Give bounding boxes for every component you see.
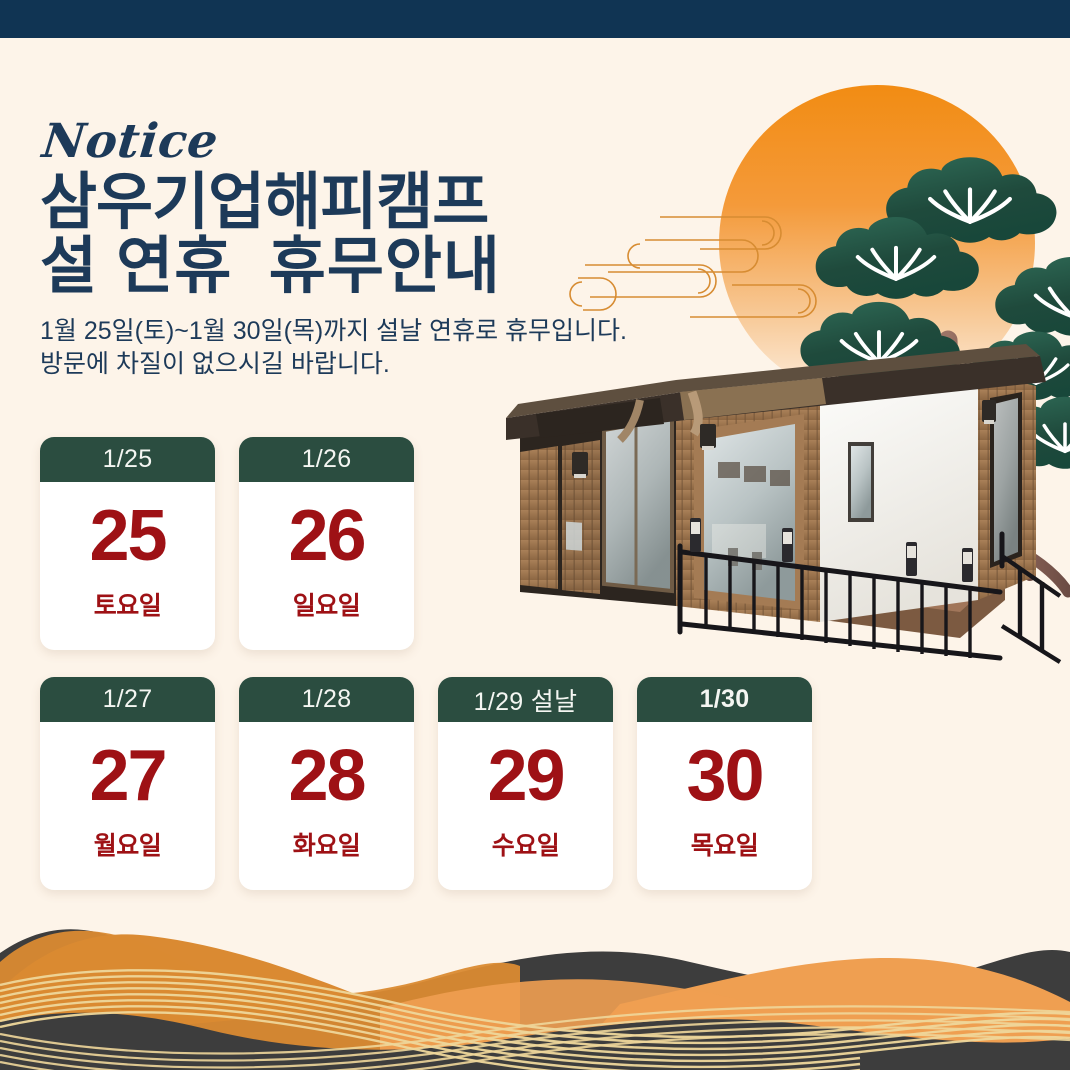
card-day-number: 25 bbox=[89, 502, 165, 571]
card-date-label: 1/25 bbox=[40, 437, 215, 482]
calendar-card: 1/28 28 화요일 bbox=[239, 677, 414, 890]
card-date-label: 1/28 bbox=[239, 677, 414, 722]
card-body: 30 목요일 bbox=[637, 722, 812, 890]
card-weekday-label: 월요일 bbox=[94, 826, 162, 862]
calendar-card: 1/29 설날 29 수요일 bbox=[438, 677, 613, 890]
page-title-line1: 삼우기업해피캠프 bbox=[40, 171, 660, 235]
card-date-label: 1/27 bbox=[40, 677, 215, 722]
card-day-number: 26 bbox=[288, 502, 364, 571]
card-weekday-label: 수요일 bbox=[492, 826, 560, 862]
page-title-line2: 설 연휴 휴무안내 bbox=[40, 235, 660, 299]
notice-body-text: 1월 25일(토)~1월 30일(목)까지 설날 연휴로 휴무입니다. 방문에 … bbox=[40, 315, 660, 381]
card-day-number: 27 bbox=[89, 742, 165, 811]
card-weekday-label: 목요일 bbox=[691, 826, 759, 862]
card-weekday-label: 화요일 bbox=[293, 826, 361, 862]
poster-canvas: Notice 삼우기업해피캠프 설 연휴 휴무안내 1월 25일(토)~1월 3… bbox=[0, 0, 1070, 1070]
card-day-number: 30 bbox=[686, 742, 762, 811]
calendar-card: 1/26 26 일요일 bbox=[239, 437, 414, 650]
card-date-label: 1/29 설날 bbox=[438, 677, 613, 722]
card-body: 27 월요일 bbox=[40, 722, 215, 890]
calendar-card: 1/30 30 목요일 bbox=[637, 677, 812, 890]
card-weekday-label: 토요일 bbox=[94, 586, 162, 622]
card-date-label: 1/26 bbox=[239, 437, 414, 482]
card-day-number: 28 bbox=[288, 742, 364, 811]
calendar-card: 1/27 27 월요일 bbox=[40, 677, 215, 890]
card-date-label: 1/30 bbox=[637, 677, 812, 722]
card-body: 28 화요일 bbox=[239, 722, 414, 890]
header-text-block: Notice 삼우기업해피캠프 설 연휴 휴무안내 1월 25일(토)~1월 3… bbox=[40, 118, 660, 381]
card-body: 29 수요일 bbox=[438, 722, 613, 890]
calendar-card: 1/25 25 토요일 bbox=[40, 437, 215, 650]
card-body: 26 일요일 bbox=[239, 482, 414, 650]
card-day-number: 29 bbox=[487, 742, 563, 811]
calendar-row-2: 1/27 27 월요일 1/28 28 화요일 1/29 설날 29 수요일 1… bbox=[40, 677, 812, 890]
card-weekday-label: 일요일 bbox=[293, 586, 361, 622]
calendar-row-1: 1/25 25 토요일 1/26 26 일요일 bbox=[40, 437, 414, 650]
notice-eyebrow: Notice bbox=[40, 118, 665, 165]
card-body: 25 토요일 bbox=[40, 482, 215, 650]
top-navy-bar bbox=[0, 0, 1070, 38]
